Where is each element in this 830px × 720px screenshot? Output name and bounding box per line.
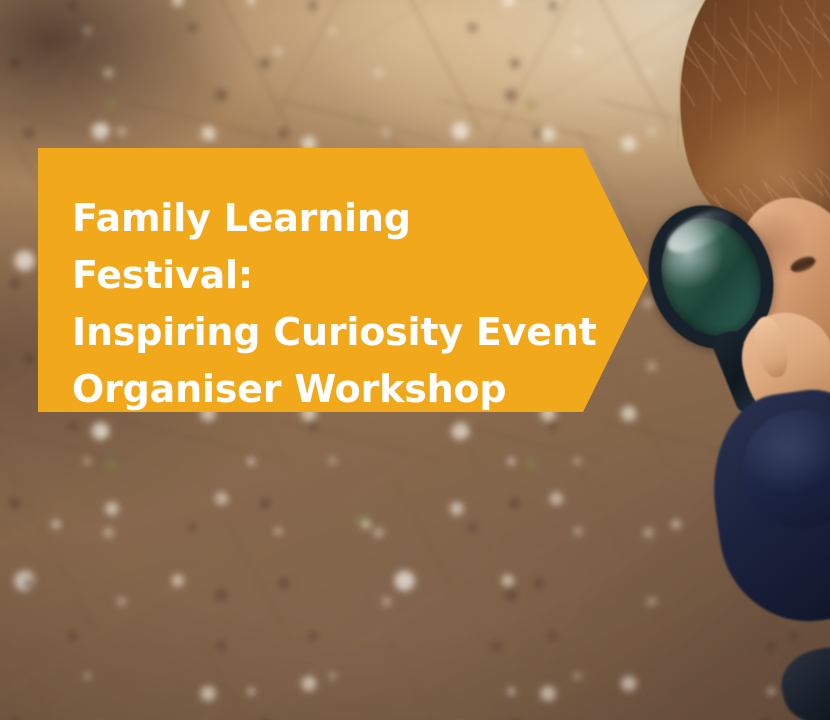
banner-image: Family Learning Festival: Inspiring Curi… [0,0,830,720]
child-shoe [774,638,830,720]
banner-title: Family Learning Festival: Inspiring Curi… [72,190,602,418]
